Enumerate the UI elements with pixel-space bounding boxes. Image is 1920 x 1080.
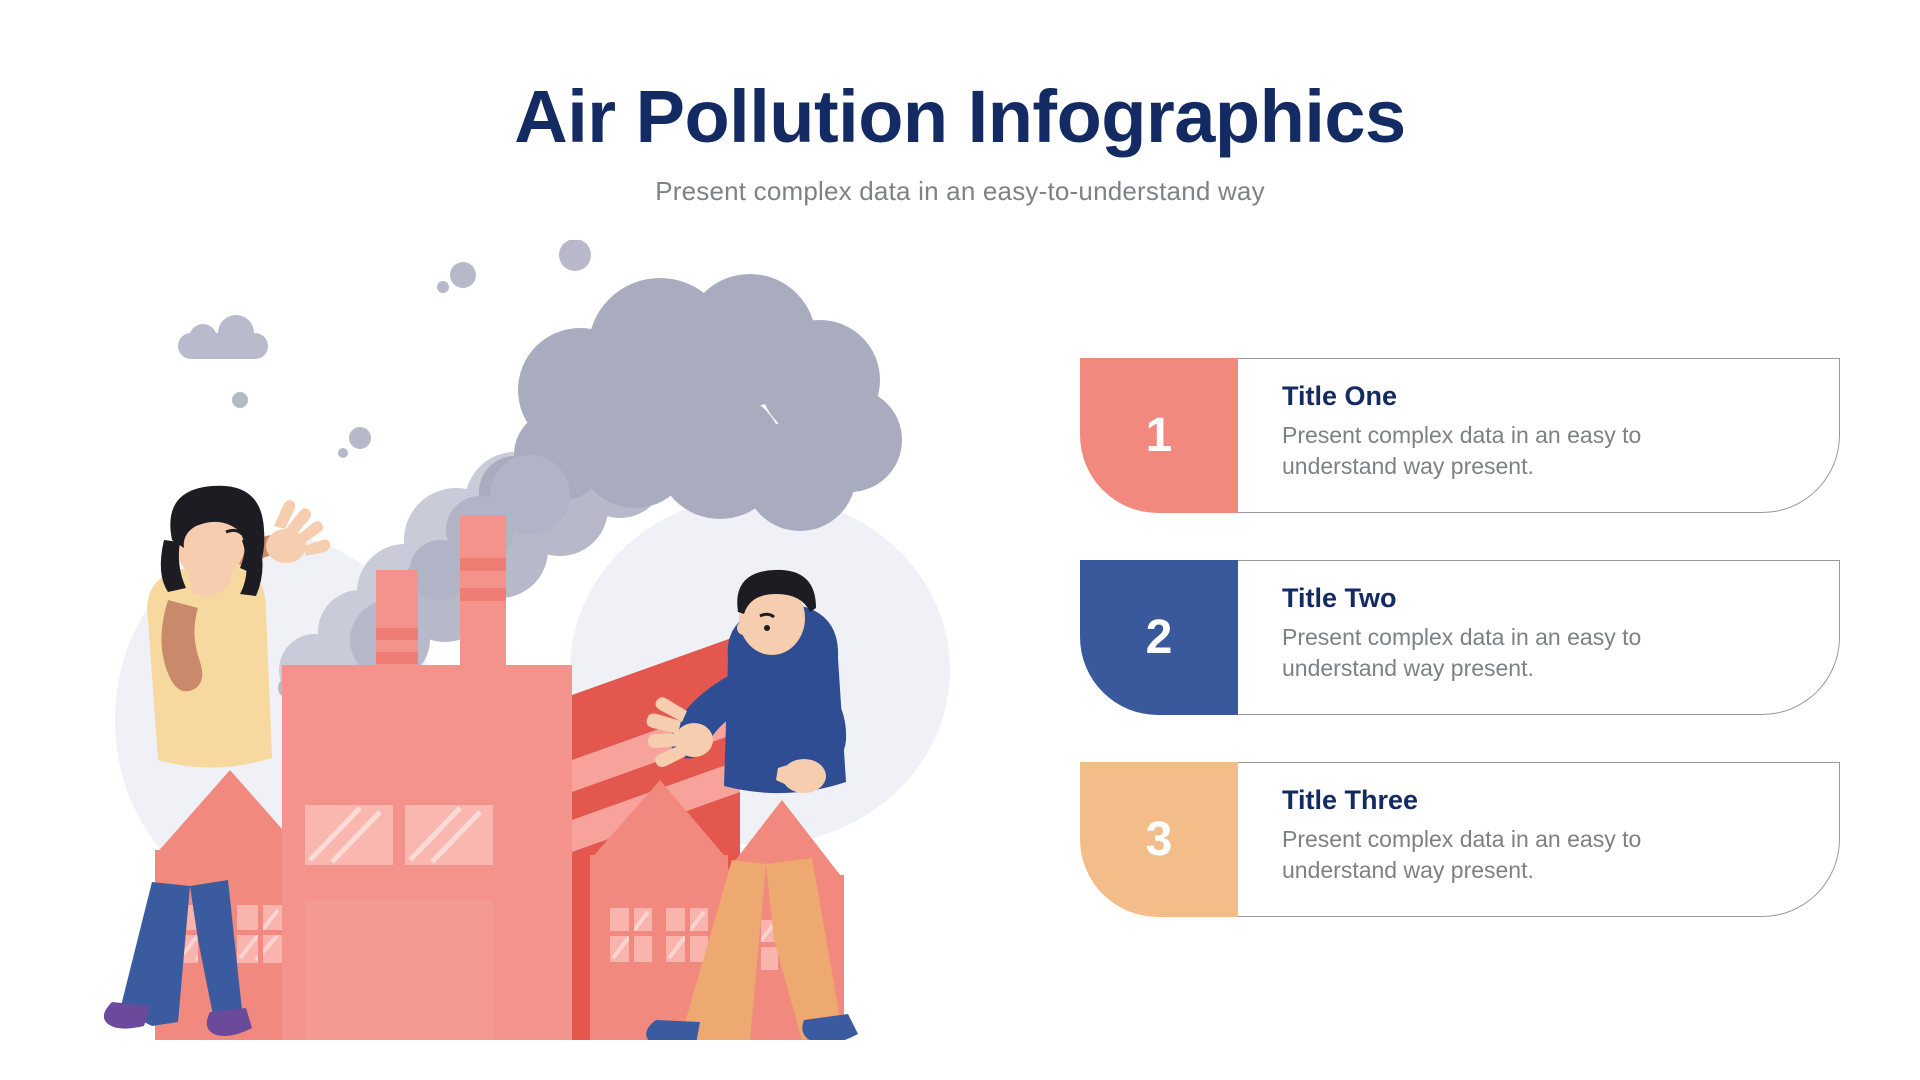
list-item[interactable]: 1 Title One Present complex data in an e… <box>1080 358 1840 513</box>
list-item[interactable]: 2 Title Two Present complex data in an e… <box>1080 560 1840 715</box>
card-number-badge: 3 <box>1080 762 1238 917</box>
card-description: Present complex data in an easy to under… <box>1282 420 1712 482</box>
list-item[interactable]: 3 Title Three Present complex data in an… <box>1080 762 1840 917</box>
card-number: 1 <box>1146 412 1173 460</box>
card-title: Title Three <box>1282 785 1805 816</box>
card-description: Present complex data in an easy to under… <box>1282 824 1712 886</box>
page-subtitle: Present complex data in an easy-to-under… <box>0 176 1920 207</box>
card-description: Present complex data in an easy to under… <box>1282 622 1712 684</box>
card-body: Title Two Present complex data in an eas… <box>1238 560 1840 715</box>
card-number: 3 <box>1146 816 1173 864</box>
air-pollution-factory-illustration <box>60 240 1080 1040</box>
card-title: Title Two <box>1282 583 1805 614</box>
small-cloud-left <box>178 315 268 359</box>
card-number: 2 <box>1146 614 1173 662</box>
infographic-card-list: 1 Title One Present complex data in an e… <box>1080 358 1840 917</box>
card-number-badge: 2 <box>1080 560 1238 715</box>
card-number-badge: 1 <box>1080 358 1238 513</box>
slide-header: Air Pollution Infographics Present compl… <box>0 78 1920 207</box>
factory-building-front <box>282 665 572 1040</box>
card-title: Title One <box>1282 381 1805 412</box>
card-body: Title One Present complex data in an eas… <box>1238 358 1840 513</box>
page-title: Air Pollution Infographics <box>0 78 1920 156</box>
card-body: Title Three Present complex data in an e… <box>1238 762 1840 917</box>
slide-canvas: Air Pollution Infographics Present compl… <box>0 0 1920 1080</box>
